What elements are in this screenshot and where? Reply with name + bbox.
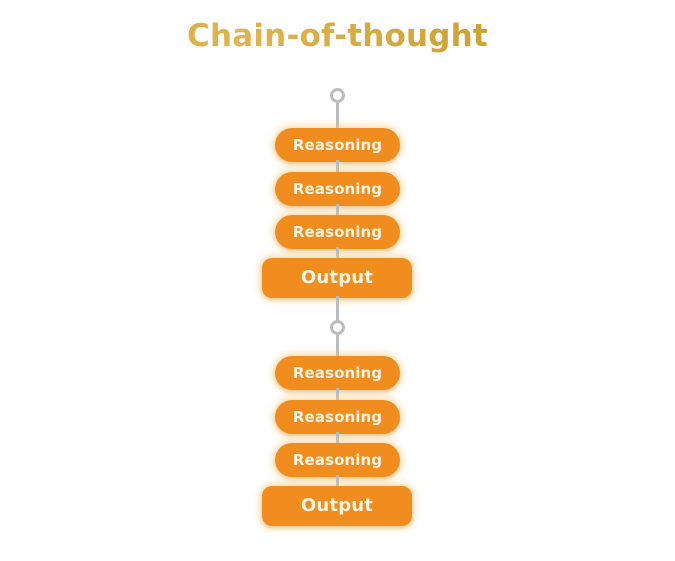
- chain-1-connector-output-to-chain-2-node: [336, 296, 339, 322]
- chain-2-step-reasoning-1-label: Reasoning: [293, 366, 382, 381]
- chain-2-step-reasoning-2-label: Reasoning: [293, 410, 382, 425]
- chain-2-step-reasoning-3[interactable]: Reasoning: [275, 443, 400, 477]
- chain-1-start-node-icon: [330, 88, 345, 103]
- chain-2-step-reasoning-3-label: Reasoning: [293, 453, 382, 468]
- chain-1-step-reasoning-3-label: Reasoning: [293, 225, 382, 240]
- chain-2-step-reasoning-2[interactable]: Reasoning: [275, 400, 400, 434]
- chain-1-step-reasoning-1[interactable]: Reasoning: [275, 128, 400, 162]
- chain-2-step-reasoning-1[interactable]: Reasoning: [275, 356, 400, 390]
- chain-2-start-node-icon: [330, 320, 345, 335]
- chain-1-step-reasoning-1-label: Reasoning: [293, 138, 382, 153]
- chain-2-step-output-label: Output: [301, 497, 373, 515]
- diagram-canvas: Chain-of-thought Reasoning Reasoning Rea…: [0, 0, 675, 561]
- chain-of-thought-flow: Reasoning Reasoning Reasoning Output Rea…: [0, 0, 675, 561]
- chain-1-step-reasoning-2[interactable]: Reasoning: [275, 172, 400, 206]
- chain-1-step-output[interactable]: Output: [262, 258, 412, 298]
- chain-1-step-reasoning-2-label: Reasoning: [293, 182, 382, 197]
- chain-1-step-output-label: Output: [301, 269, 373, 287]
- chain-2-step-output[interactable]: Output: [262, 486, 412, 526]
- chain-1-step-reasoning-3[interactable]: Reasoning: [275, 215, 400, 249]
